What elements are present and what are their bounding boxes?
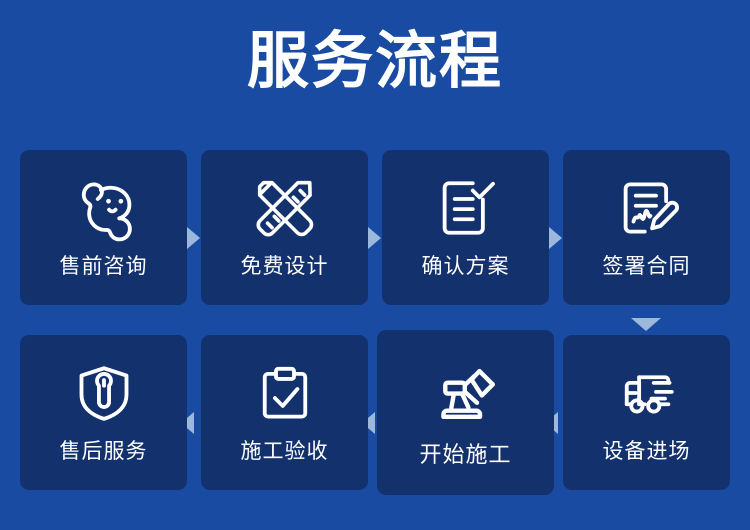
step-card-after-sales-service[interactable]: 售后服务 <box>20 335 187 490</box>
shield-wrench-icon <box>68 357 140 429</box>
step-label: 设备进场 <box>603 439 691 465</box>
step-label: 开始施工 <box>419 442 511 468</box>
step-label: 施工验收 <box>241 439 329 465</box>
arrow-step2-to-step3-icon <box>368 227 381 249</box>
contract-sign-icon <box>611 172 683 244</box>
page-title: 服务流程 <box>0 26 750 98</box>
step-card-pre-sales-consultation[interactable]: 售前咨询 <box>20 150 187 305</box>
step-label: 售前咨询 <box>60 254 148 280</box>
step-card-equipment-entry[interactable]: 设备进场 <box>563 335 730 490</box>
step-card-free-design[interactable]: 免费设计 <box>201 150 368 305</box>
excavator-icon <box>427 354 505 432</box>
pencil-ruler-icon <box>249 172 321 244</box>
service-process-infographic: 服务流程 售前咨询 <box>0 0 750 530</box>
arrow-step3-to-step4-icon <box>549 227 562 249</box>
phone-smiley-icon <box>68 172 140 244</box>
step-label: 签署合同 <box>603 254 691 280</box>
process-steps-grid: 售前咨询 免费设计 <box>0 148 750 508</box>
step-label: 售后服务 <box>60 439 148 465</box>
delivery-truck-icon <box>611 357 683 429</box>
step-label: 免费设计 <box>241 254 329 280</box>
arrow-step1-to-step2-icon <box>187 227 200 249</box>
document-check-icon <box>430 172 502 244</box>
step-card-start-construction[interactable]: 开始施工 <box>377 330 554 495</box>
step-card-confirm-plan[interactable]: 确认方案 <box>382 150 549 305</box>
step-card-sign-contract[interactable]: 签署合同 <box>563 150 730 305</box>
clipboard-check-icon <box>249 357 321 429</box>
step-card-construction-acceptance[interactable]: 施工验收 <box>201 335 368 490</box>
arrow-step4-to-step5-icon <box>631 318 661 331</box>
step-label: 确认方案 <box>422 254 510 280</box>
